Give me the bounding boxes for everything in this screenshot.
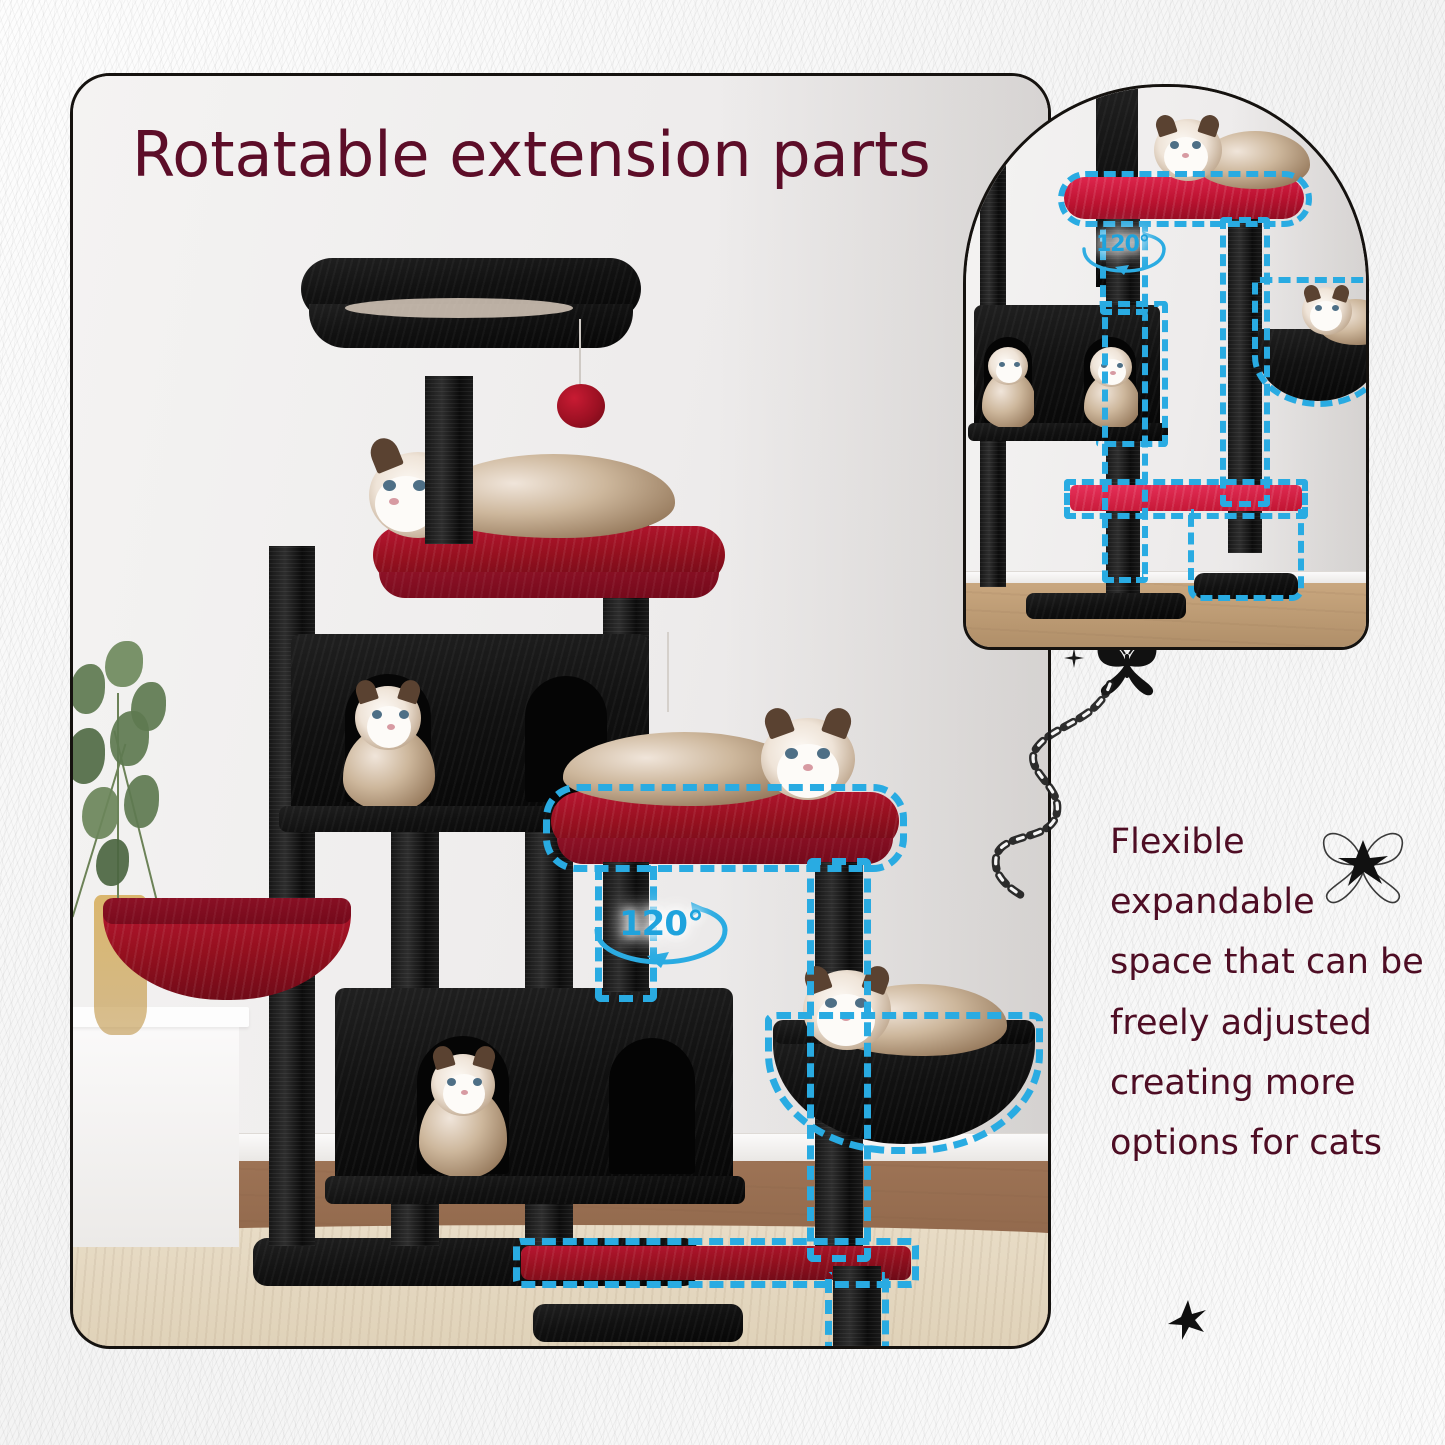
feature-line: Flexible xyxy=(1110,812,1440,872)
rotation-badge-main-label: 120° xyxy=(619,904,703,944)
page-root: 120° Rotatable extension parts xyxy=(0,0,1445,1445)
lower-condo-opening-right xyxy=(609,1038,695,1174)
inset-closeup-photo: 120° xyxy=(963,84,1369,650)
rotation-badge-inset-label: 120° xyxy=(1096,232,1149,257)
plant-in-gold-vase xyxy=(70,635,180,927)
lower-condo-floor xyxy=(325,1176,745,1204)
feature-line: creating more xyxy=(1110,1053,1440,1113)
feature-line: expandable xyxy=(1110,872,1440,932)
base-board-secondary xyxy=(533,1304,743,1342)
sparkle-icon xyxy=(1064,648,1084,668)
highlight-bottom-right-post xyxy=(825,1272,889,1349)
rotation-badge-inset: 120° xyxy=(1076,229,1172,275)
cat-in-lower-condo xyxy=(417,1044,511,1176)
post-top-center xyxy=(425,376,473,544)
feature-line: freely adjusted xyxy=(1110,993,1440,1053)
main-product-photo: 120° xyxy=(70,73,1051,1349)
hanging-pompom-toy xyxy=(557,384,605,428)
toy-string-secondary xyxy=(667,632,669,712)
pompom-string xyxy=(579,319,581,387)
page-title: Rotatable extension parts xyxy=(132,118,931,191)
rotation-badge-main: 120° xyxy=(583,896,739,968)
sisal-post-lower-left xyxy=(269,766,315,1246)
top-perch-inner xyxy=(345,298,573,318)
feature-description: Flexible expandable space that can be fr… xyxy=(1110,812,1440,1173)
red-hammock-rim xyxy=(103,898,351,924)
inset-highlight-black-hammock xyxy=(1252,277,1369,407)
white-cabinet xyxy=(70,1016,239,1248)
inset-highlight-post-base xyxy=(1188,509,1304,601)
inset-highlight-lower-post xyxy=(1102,311,1148,583)
feature-line: space that can be xyxy=(1110,932,1440,992)
cat-on-top-platform xyxy=(355,436,685,540)
inset-highlight-red-top-platform xyxy=(1058,171,1312,227)
inset-cat-in-condo-left xyxy=(982,343,1034,427)
inset-floor-board xyxy=(1026,593,1186,619)
red-top-platform-underside xyxy=(379,572,719,598)
star-icon xyxy=(1168,1300,1208,1340)
cat-in-upper-condo xyxy=(343,680,435,806)
feature-line: options for cats xyxy=(1110,1113,1440,1173)
